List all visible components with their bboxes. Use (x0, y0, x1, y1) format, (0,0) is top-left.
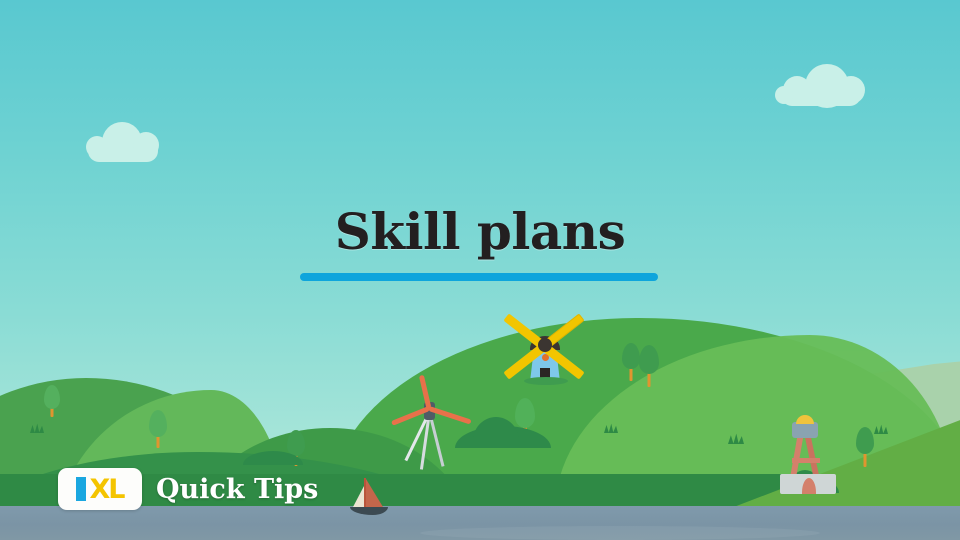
sailboat-jib-sail (353, 486, 364, 507)
cloud-left-icon (88, 140, 158, 162)
water-tower (780, 412, 840, 494)
sailboat-main-sail (366, 479, 383, 507)
quick-tips-badge: XL Quick Tips (58, 468, 318, 510)
slide-canvas: Skill plans (0, 0, 960, 540)
sailboat-mast (364, 478, 366, 507)
wind-turbine (404, 392, 478, 470)
tree (622, 343, 640, 381)
ixl-logo-i-bar (76, 477, 86, 501)
windmill (502, 306, 588, 388)
tree (639, 345, 659, 387)
water-tower-cap (796, 415, 814, 424)
windmill-base-bush (524, 377, 568, 385)
tree (149, 410, 167, 448)
tree (856, 427, 874, 467)
cloud-right-icon (781, 84, 861, 106)
water-highlight (420, 526, 820, 540)
sailboat (348, 478, 390, 518)
quick-tips-label: Quick Tips (156, 474, 318, 505)
sailboat-hull (350, 507, 388, 515)
windmill-hub (538, 338, 552, 352)
tree (44, 385, 60, 417)
ixl-logo-xl-text: XL (89, 476, 123, 503)
water-tower-tank (792, 422, 818, 438)
title-underline-rule (300, 273, 658, 281)
ixl-logo: XL (58, 468, 142, 510)
page-title: Skill plans (0, 202, 960, 261)
